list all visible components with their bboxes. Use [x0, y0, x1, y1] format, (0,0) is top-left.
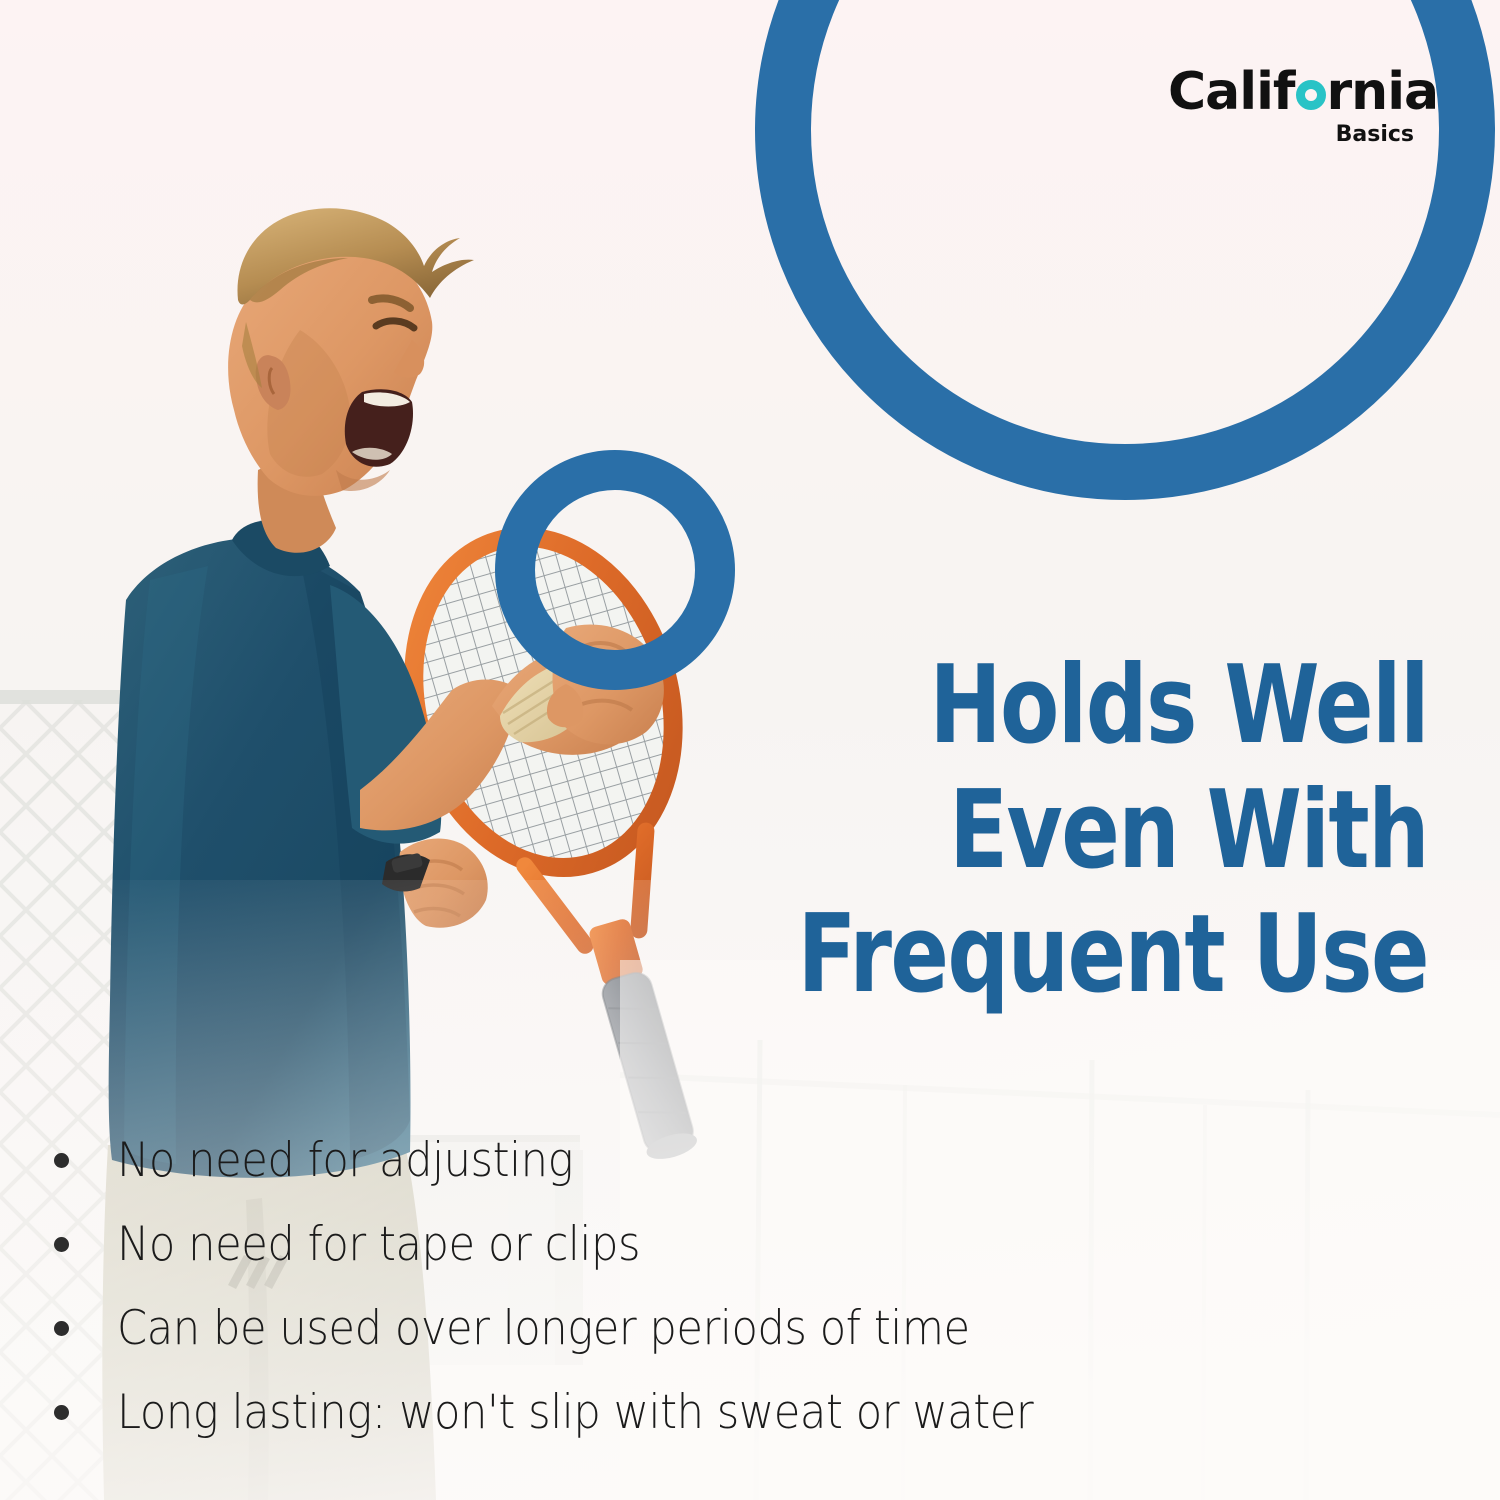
teal-ring-o-icon [1296, 80, 1326, 110]
feature-bullet-list: No need for adjusting No need for tape o… [54, 1118, 1354, 1454]
headline-line-3: Frequent Use [708, 904, 1428, 1007]
small-blue-ring-icon [495, 450, 735, 690]
bullet-dot-icon [54, 1321, 69, 1336]
brand-name-part1: Calif [1168, 62, 1295, 122]
headline-line-1: Holds Well [708, 655, 1428, 758]
bullet-dot-icon [54, 1405, 69, 1420]
page-title: Holds Well Even With Frequent Use [528, 655, 1428, 1007]
list-item-label: No need for adjusting [117, 1137, 573, 1184]
brand-subtitle: Basics [1168, 122, 1414, 147]
list-item: No need for tape or clips [54, 1202, 1354, 1286]
product-feature-banner: Califrnia Basics Holds Well Even With Fr… [0, 0, 1500, 1500]
list-item: No need for adjusting [54, 1118, 1354, 1202]
list-item: Long lasting: won't slip with sweat or w… [54, 1370, 1354, 1454]
brand-name-part2: rnia [1327, 62, 1439, 122]
list-item: Can be used over longer periods of time [54, 1286, 1354, 1370]
brand-name: Califrnia [1168, 66, 1418, 118]
brand-logo: Califrnia Basics [1168, 66, 1418, 158]
bullet-dot-icon [54, 1153, 69, 1168]
headline-line-2: Even With [708, 780, 1428, 883]
list-item-label: Can be used over longer periods of time [117, 1305, 970, 1352]
bullet-dot-icon [54, 1237, 69, 1252]
list-item-label: Long lasting: won't slip with sweat or w… [117, 1389, 1033, 1436]
list-item-label: No need for tape or clips [117, 1221, 640, 1268]
